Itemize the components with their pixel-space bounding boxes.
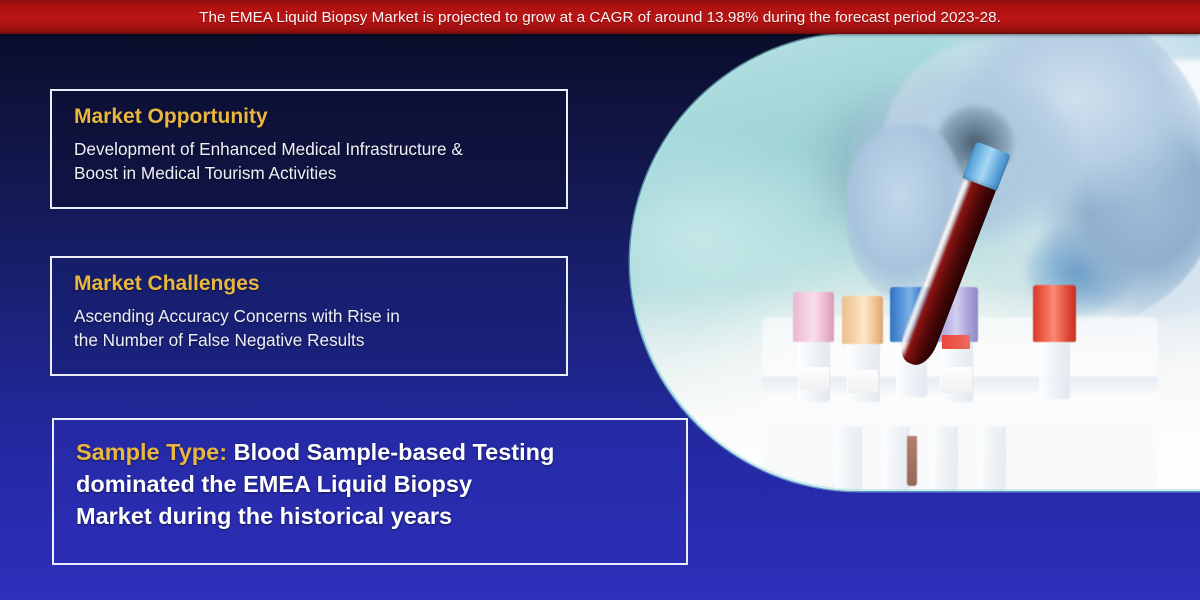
card-body-line-1: Development of Enhanced Medical Infrastr… xyxy=(74,139,463,159)
sample-type-label: Sample Type: xyxy=(76,439,227,465)
lower-tube-3 xyxy=(930,427,958,491)
infographic-canvas: The EMEA Liquid Biopsy Market is project… xyxy=(0,0,1200,600)
cap-peach xyxy=(842,296,883,344)
card-body-line-2: the Number of False Negative Results xyxy=(74,330,364,350)
vial-label-pink xyxy=(799,367,829,390)
card-title-market-opportunity: Market Opportunity xyxy=(74,106,544,128)
lower-tube-brown-sample xyxy=(907,436,917,486)
vial-label-peach xyxy=(848,370,878,393)
card-body-line-2: Boost in Medical Tourism Activities xyxy=(74,163,336,183)
laboratory-photo xyxy=(620,33,1200,493)
lower-tube-2 xyxy=(882,427,910,491)
lower-tube-4 xyxy=(978,427,1006,491)
card-market-opportunity: Market Opportunity Development of Enhanc… xyxy=(50,89,568,209)
card-title-market-challenges: Market Challenges xyxy=(74,273,544,295)
card-body-market-opportunity: Development of Enhanced Medical Infrastr… xyxy=(74,137,544,186)
headline-banner: The EMEA Liquid Biopsy Market is project… xyxy=(0,0,1200,34)
sample-type-line-3: Market during the historical years xyxy=(76,503,452,529)
vial-label-lavender-red xyxy=(942,335,970,349)
headline-text: The EMEA Liquid Biopsy Market is project… xyxy=(199,9,1001,26)
card-market-challenges: Market Challenges Ascending Accuracy Con… xyxy=(50,256,568,376)
sample-type-line-2: dominated the EMEA Liquid Biopsy xyxy=(76,471,472,497)
card-body-line-1: Ascending Accuracy Concerns with Rise in xyxy=(74,306,400,326)
cap-pink xyxy=(793,292,834,342)
lower-tube-1 xyxy=(834,427,862,491)
sample-type-statement: Sample Type: Blood Sample-based Testing … xyxy=(76,437,662,533)
card-sample-type: Sample Type: Blood Sample-based Testing … xyxy=(52,418,688,565)
vial-label-lavender xyxy=(941,367,972,392)
sample-type-line-1: Blood Sample-based Testing xyxy=(227,439,554,465)
photo-ellipse-mask xyxy=(630,33,1200,491)
cap-red xyxy=(1033,285,1076,342)
card-body-market-challenges: Ascending Accuracy Concerns with Rise in… xyxy=(74,304,544,353)
